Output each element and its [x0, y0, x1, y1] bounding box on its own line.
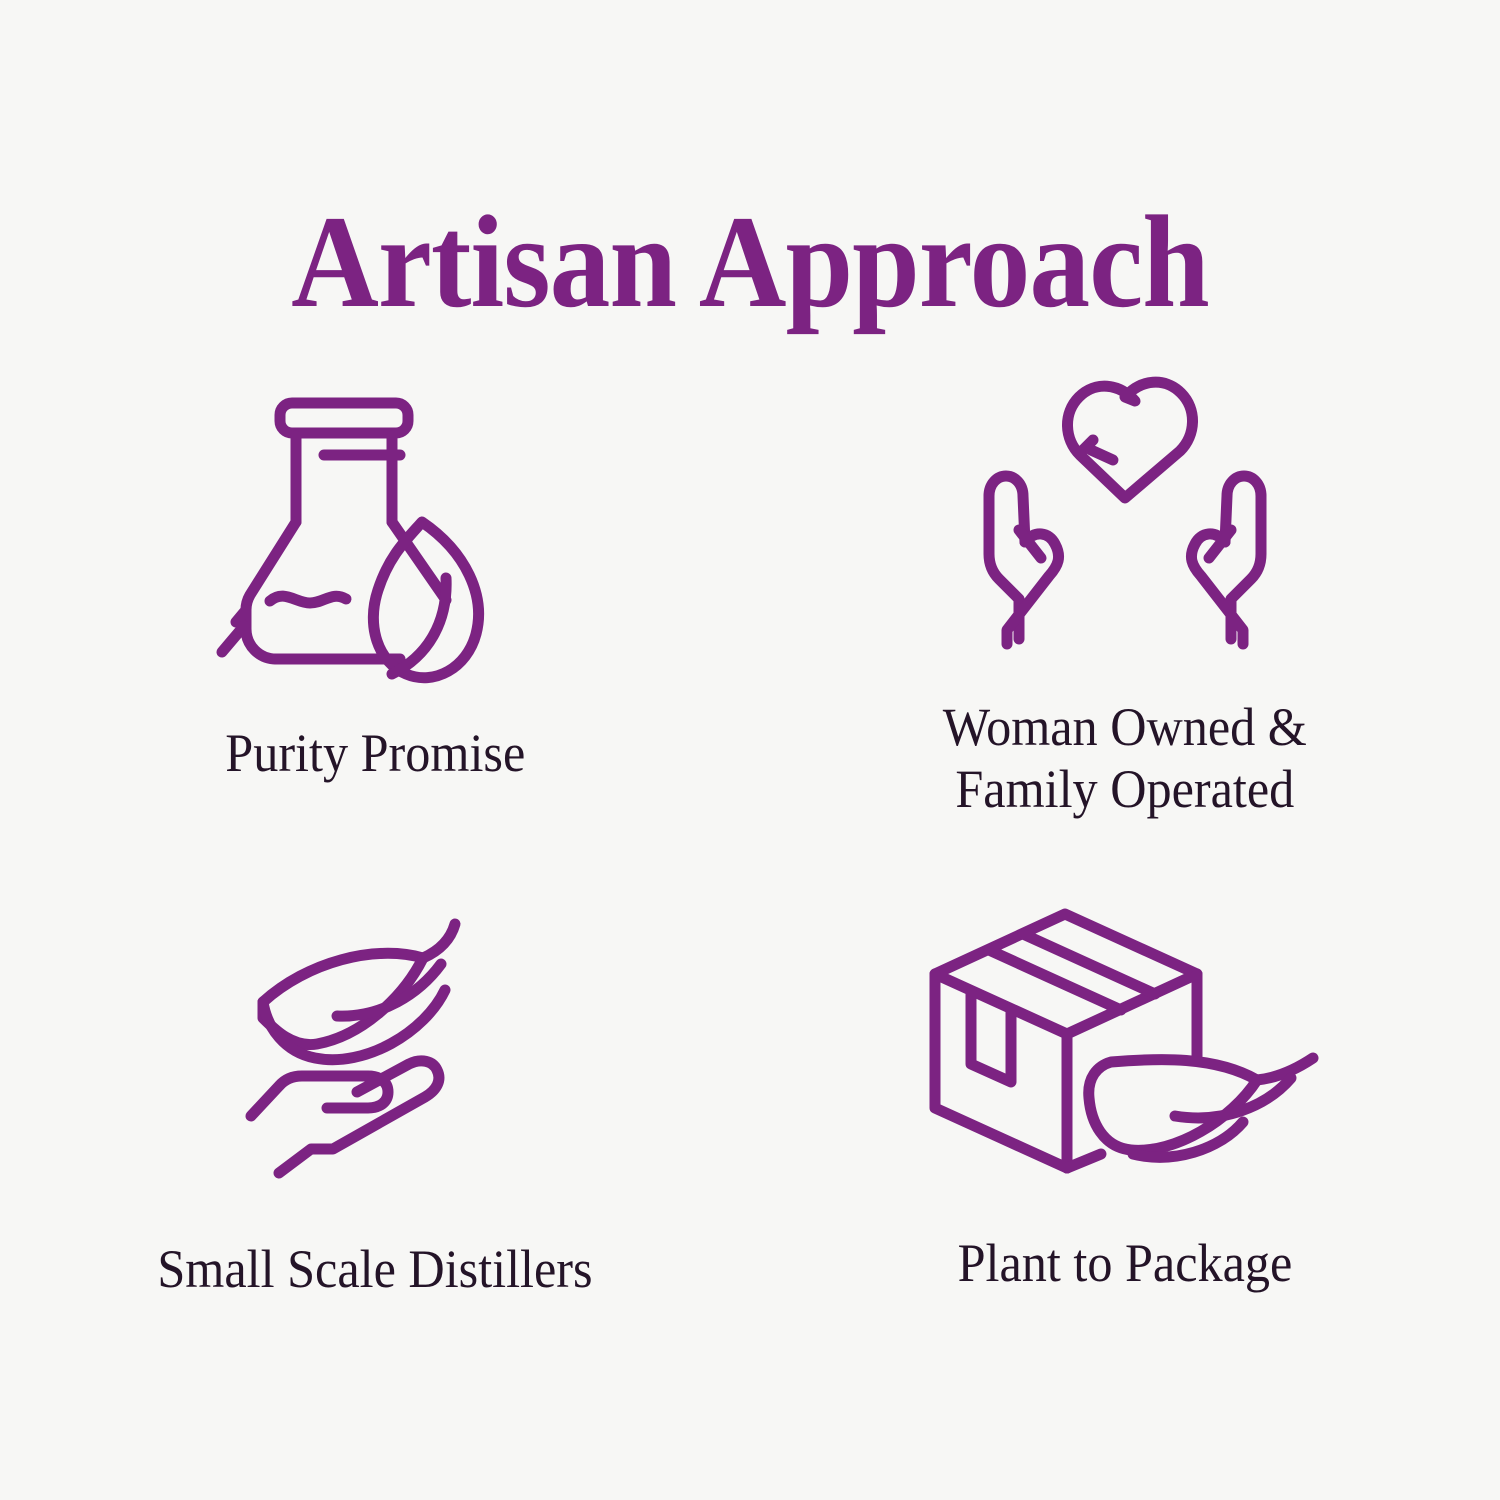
box-leaf-icon — [925, 906, 1325, 1176]
feature-item-small-scale-distillers: Small Scale Distillers — [0, 860, 750, 1360]
hands-holding-heart-icon — [965, 378, 1285, 648]
feature-item-purity-promise: Purity Promise — [0, 360, 750, 860]
page-title: Artisan Approach — [60, 196, 1440, 328]
feature-item-plant-to-package: Plant to Package — [750, 860, 1500, 1360]
artisan-approach-panel: Artisan Approach — [0, 0, 1500, 1500]
hand-holding-leaf-icon — [245, 920, 505, 1170]
feature-label: Woman Owned & Family Operated — [943, 696, 1307, 820]
feature-label: Purity Promise — [225, 722, 525, 784]
flask-leaf-icon — [240, 370, 510, 670]
feature-label: Small Scale Distillers — [157, 1238, 592, 1300]
feature-item-woman-owned: Woman Owned & Family Operated — [750, 360, 1500, 860]
feature-label: Plant to Package — [958, 1232, 1293, 1294]
feature-grid: Purity Promise — [0, 360, 1500, 1360]
